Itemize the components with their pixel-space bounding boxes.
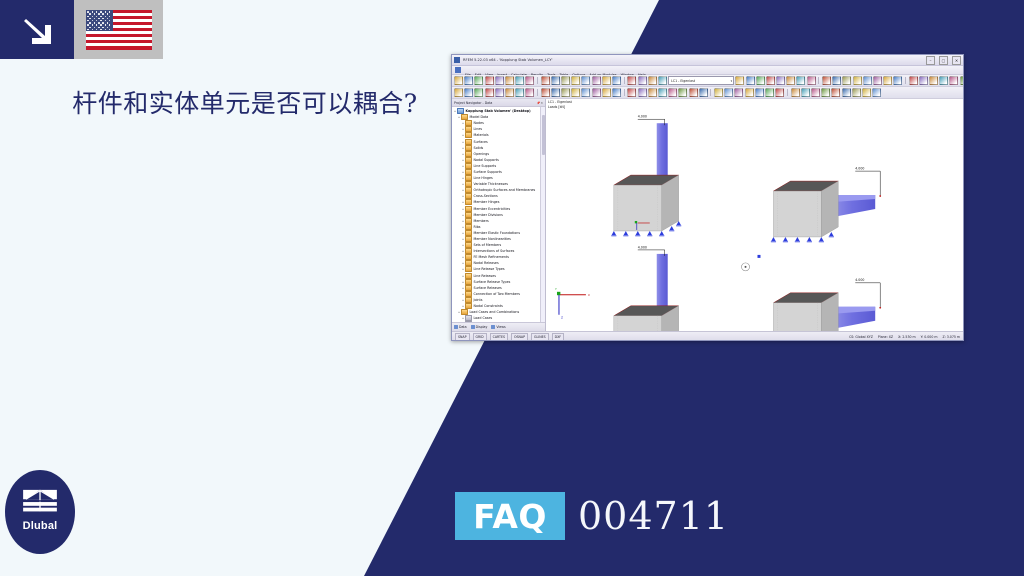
navigator-pin-icon[interactable]: 📌✕ [537, 101, 543, 105]
tree-item-label: Joints [474, 298, 483, 302]
tree-item-label: Surface Releases [474, 286, 502, 290]
folder-icon [465, 126, 472, 132]
folder-icon [465, 254, 472, 260]
menu-app-icon [455, 67, 461, 73]
toolbar-icon-4[interactable] [485, 88, 494, 97]
status-readout: Y: 0.000 m [921, 335, 938, 339]
toolbar-separator [818, 77, 819, 84]
toolbar-icon-16[interactable] [602, 88, 611, 97]
structural-model-graphic: 4.000 [546, 99, 963, 331]
folder-icon [465, 206, 472, 212]
faq-badge: FAQ [455, 492, 565, 540]
navigator-tab-label: Display [476, 325, 488, 329]
folder-icon [461, 309, 468, 315]
folder-icon [465, 248, 472, 254]
toolbar-icon-43[interactable] [862, 88, 871, 97]
navigator-tree[interactable]: +Kopplung Stab Volumen' (Desktop)+Model … [452, 107, 545, 322]
folder-icon [465, 218, 472, 224]
svg-text:4.000: 4.000 [855, 278, 864, 282]
folder-icon [465, 199, 472, 205]
tree-item-label: Line Hinges [474, 176, 493, 180]
folder-icon [465, 151, 472, 157]
folder-icon [457, 108, 464, 114]
status-bar: SNAPGRIDCARTESOSNAPGLINESDXFCS: Global X… [452, 331, 963, 341]
toolbar-icon-12[interactable] [561, 88, 570, 97]
folder-icon [465, 212, 472, 218]
toolbar-icon-37[interactable] [801, 88, 810, 97]
page-title: 杆件和实体单元是否可以耦合? [55, 88, 435, 119]
toolbar-icon-42[interactable] [852, 88, 861, 97]
navigator-tab-views[interactable]: Views [491, 325, 505, 329]
toolbar-icon-21[interactable] [648, 88, 657, 97]
toolbar-icon-8[interactable] [525, 88, 534, 97]
tree-item-label: Line Releases [474, 274, 497, 278]
toolbar-icon-12[interactable] [842, 76, 851, 85]
selection-marker [742, 255, 761, 271]
tree-item-label: Cross-Sections [474, 194, 498, 198]
model-assembly-2: 4.000 [771, 167, 881, 243]
tree-item-label: Surface Supports [474, 170, 502, 174]
toolbar-icon-3[interactable] [474, 76, 483, 85]
main-toolbar: LC1 - Eigenlast▾ [452, 75, 963, 87]
folder-icon [465, 291, 472, 297]
tree-item-label: Member Elastic Foundations [474, 231, 521, 235]
status-readouts: CS: Global XYZPlane: XZX: 2.530 mY: 0.00… [849, 335, 960, 339]
united-states-flag [74, 0, 163, 59]
status-toggle-dxf[interactable]: DXF [552, 333, 564, 341]
load-case-select-value: LC1 - Eigenlast [671, 79, 695, 83]
svg-text:4.000: 4.000 [855, 167, 864, 171]
toolbar-icon-11[interactable] [832, 76, 841, 85]
toolbar-icon-5[interactable] [495, 76, 504, 85]
toolbar-icon-28[interactable] [714, 88, 723, 97]
toolbar-icon-15[interactable] [873, 76, 882, 85]
window-body: Project Navigator - Data 📌✕ +Kopplung St… [452, 99, 963, 331]
toolbar-icon-7[interactable] [515, 88, 524, 97]
toolbar-icon-15[interactable] [592, 76, 601, 85]
folder-icon [465, 132, 472, 138]
close-button[interactable]: ✕ [952, 56, 961, 65]
toolbar-icon-17[interactable] [612, 88, 621, 97]
minimize-button[interactable]: – [926, 56, 935, 65]
tree-item-label: Lines [474, 127, 483, 131]
toolbar-icon-13[interactable] [571, 76, 580, 85]
navigator-title: Project Navigator - Data [454, 101, 492, 105]
tree-item-label: Model Data [470, 115, 489, 119]
model-view[interactable]: LC1 - Eigenlast Loads [kN] [546, 99, 963, 331]
arrow-down-right-icon [0, 0, 74, 59]
toolbar-icon-31[interactable] [745, 88, 754, 97]
folder-icon [465, 321, 472, 322]
tree-item-label: Orthotropic Surfaces and Membranes [474, 188, 536, 192]
toolbar-icon-13[interactable] [853, 76, 862, 85]
toolbar-icon-22[interactable] [658, 88, 667, 97]
maximize-button[interactable]: ▢ [939, 56, 948, 65]
toolbar-icon-1[interactable] [735, 76, 744, 85]
toolbar-icon-23[interactable] [949, 76, 958, 85]
tree-item-label: Member Hinges [474, 200, 500, 204]
status-toggle-osnap[interactable]: OSNAP [511, 333, 528, 341]
toolbar-icon-19[interactable] [627, 88, 636, 97]
faq-number: 004711 [578, 492, 729, 540]
toolbar-icon-10[interactable] [541, 76, 550, 85]
folder-icon [465, 303, 472, 309]
toolbar-icon-36[interactable] [791, 88, 800, 97]
status-toggle-cartes[interactable]: CARTES [490, 333, 508, 341]
toolbar-separator [905, 77, 906, 84]
toolbar-separator [624, 77, 625, 84]
tree-item-label: Connection of Two Members [474, 292, 520, 296]
tab-icon [491, 325, 495, 329]
folder-icon [465, 157, 472, 163]
tree-item-label: Intersections of Surfaces [474, 249, 515, 253]
tree-item-label: Materials [474, 133, 489, 137]
toolbar-icon-13[interactable] [571, 88, 580, 97]
toolbar-icon-20[interactable] [919, 76, 928, 85]
tab-icon [471, 325, 475, 329]
navigator-tab-label: Data [459, 325, 467, 329]
toolbar-icon-41[interactable] [842, 88, 851, 97]
svg-text:X: X [588, 293, 590, 297]
tree-item-label: Nodal Releases [474, 261, 499, 265]
toolbar-icon-25[interactable] [689, 88, 698, 97]
secondary-toolbar [452, 87, 963, 99]
toolbar-icon-24[interactable] [960, 76, 964, 85]
tab-icon [454, 325, 458, 329]
window-controls: – ▢ ✕ [926, 56, 961, 65]
folder-icon [465, 285, 472, 291]
tree-item-label: Line Supports [474, 164, 497, 168]
tree-item-label: Member Eccentricities [474, 207, 511, 211]
toolbar-icon-5[interactable] [495, 88, 504, 97]
toolbar-icon-14[interactable] [581, 88, 590, 97]
toolbar-icon-29[interactable] [724, 88, 733, 97]
toolbar-icon-12[interactable] [561, 76, 570, 85]
toolbar-icon-40[interactable] [831, 88, 840, 97]
toolbar-icon-17[interactable] [893, 76, 902, 85]
tree-item-label: Kopplung Stab Volumen' (Desktop) [466, 109, 531, 113]
toolbar-icon-4[interactable] [485, 76, 494, 85]
toolbar-icon-8[interactable] [525, 76, 534, 85]
app-icon [454, 57, 460, 63]
toolbar-icon-21[interactable] [648, 76, 657, 85]
brand-name: Dlubal [5, 520, 75, 532]
status-readout: Z: 3.075 m [942, 335, 960, 339]
toolbar-icon-6[interactable] [505, 88, 514, 97]
folder-icon [465, 230, 472, 236]
toolbar-icon-4[interactable] [766, 76, 775, 85]
folder-icon [465, 193, 472, 199]
tree-item-label: Nodal Constraints [474, 304, 503, 308]
toolbar-icon-14[interactable] [863, 76, 872, 85]
model-assembly-4: 4.000 [771, 278, 881, 331]
toolbar-icon-30[interactable] [734, 88, 743, 97]
folder-icon [461, 114, 468, 120]
chevron-down-icon[interactable]: ▾ [731, 79, 733, 83]
toolbar-icon-3[interactable] [756, 76, 765, 85]
tree-item-label: Solids [474, 146, 484, 150]
load-case-select[interactable]: LC1 - Eigenlast▾ [668, 76, 734, 85]
toolbar-separator [537, 77, 538, 84]
toolbar-icon-22[interactable] [658, 76, 667, 85]
folder-icon [465, 163, 472, 169]
tree-item-label: Load Cases and Combinations [470, 310, 520, 314]
folder-icon [465, 187, 472, 193]
navigator-header: Project Navigator - Data 📌✕ [452, 99, 545, 107]
toolbar-icon-7[interactable] [796, 76, 805, 85]
toolbar-icon-19[interactable] [627, 76, 636, 85]
toolbar-separator [787, 89, 788, 96]
folder-icon [465, 242, 472, 248]
toolbar-icon-22[interactable] [939, 76, 948, 85]
window-title: RFEM 5.22.03 x64 - 'Kopplung Stab Volume… [463, 58, 553, 62]
toolbar-icon-33[interactable] [765, 88, 774, 97]
folder-icon [465, 120, 472, 126]
status-toggle-snap[interactable]: SNAP [455, 333, 470, 341]
toolbar-icon-2[interactable] [464, 76, 473, 85]
toolbar-icon-34[interactable] [775, 88, 784, 97]
model-assembly-1: 4.000 [611, 115, 681, 237]
tree-item-label: Member Nonlinearities [474, 237, 511, 241]
toolbar-separator [710, 89, 711, 96]
toolbar-icon-17[interactable] [612, 76, 621, 85]
toolbar-icon-2[interactable] [464, 88, 473, 97]
model-assembly-3: 4.000 [611, 245, 681, 331]
faq-label: FAQ [473, 497, 547, 536]
tree-item-label: Load Cases [474, 316, 493, 320]
tree-item-label: Ribs [474, 225, 481, 229]
toolbar-icon-21[interactable] [929, 76, 938, 85]
status-readout: X: 2.530 m [898, 335, 916, 339]
toolbar-icon-44[interactable] [872, 88, 881, 97]
folder-icon [465, 266, 472, 272]
status-readout: Plane: XZ [878, 335, 893, 339]
toolbar-icon-3[interactable] [474, 88, 483, 97]
toolbar-icon-8[interactable] [807, 76, 816, 85]
navigator-scrollbar[interactable] [540, 107, 545, 322]
toolbar-icon-10[interactable] [541, 88, 550, 97]
menu-bar: FileEditViewInsertCalculateResultsToolsT… [452, 66, 963, 75]
tree-item-label: Line Release Types [474, 267, 505, 271]
dlubal-logo: Dlubal [5, 470, 75, 554]
toolbar-icon-10[interactable] [822, 76, 831, 85]
toolbar-icon-16[interactable] [883, 76, 892, 85]
toolbar-icon-1[interactable] [454, 76, 463, 85]
status-toggle-grid[interactable]: GRID [473, 333, 487, 341]
navigator-tab-data[interactable]: Data [454, 325, 467, 329]
toolbar-icon-19[interactable] [909, 76, 918, 85]
tree-item[interactable]: +Load Combinations [453, 321, 545, 322]
status-toggle-glines[interactable]: GLINES [531, 333, 549, 341]
tree-item-label: Members [474, 219, 489, 223]
folder-icon [465, 236, 472, 242]
window-title-bar: RFEM 5.22.03 x64 - 'Kopplung Stab Volume… [452, 55, 963, 66]
toolbar-icon-7[interactable] [515, 76, 524, 85]
toolbar-icon-39[interactable] [821, 88, 830, 97]
navigator-tab-label: Views [496, 325, 505, 329]
folder-icon [465, 181, 472, 187]
tree-item-label: Surface Release Types [474, 280, 511, 284]
toolbar-icon-6[interactable] [505, 76, 514, 85]
folder-icon [465, 315, 472, 321]
toolbar-separator [624, 89, 625, 96]
status-readout: CS: Global XYZ [849, 335, 873, 339]
toolbar-icon-5[interactable] [776, 76, 785, 85]
toolbar-icon-14[interactable] [581, 76, 590, 85]
svg-text:Y: Y [555, 287, 557, 291]
slide-canvas: 杆件和实体单元是否可以耦合? Dlubal FAQ 004711 RFEM 5.… [0, 0, 1024, 576]
folder-icon [465, 273, 472, 279]
toolbar-icon-20[interactable] [638, 88, 647, 97]
toolbar-icon-11[interactable] [551, 76, 560, 85]
svg-text:4.000: 4.000 [638, 245, 647, 249]
folder-icon [465, 169, 472, 175]
tree-item-label: Surfaces [474, 140, 488, 144]
toolbar-icon-20[interactable] [638, 76, 647, 85]
toolbar-icon-26[interactable] [699, 88, 708, 97]
project-navigator: Project Navigator - Data 📌✕ +Kopplung St… [452, 99, 546, 331]
toolbar-icon-24[interactable] [678, 88, 687, 97]
tree-item-label: Member Divisions [474, 213, 503, 217]
tree-item-label: Sets of Members [474, 243, 502, 247]
rfem-application-window: RFEM 5.22.03 x64 - 'Kopplung Stab Volume… [451, 54, 964, 341]
toolbar-icon-16[interactable] [602, 76, 611, 85]
toolbar-icon-6[interactable] [786, 76, 795, 85]
navigator-tabs: DataDisplayViews [452, 322, 545, 331]
toolbar-icon-23[interactable] [668, 88, 677, 97]
tree-item-label: Nodal Supports [474, 158, 499, 162]
tree-item-label: Nodes [474, 121, 484, 125]
folder-icon [465, 145, 472, 151]
folder-icon [465, 139, 472, 145]
toolbar-icon-1[interactable] [454, 88, 463, 97]
tree-item-label: Variable Thicknesses [474, 182, 508, 186]
navigator-tab-display[interactable]: Display [471, 325, 488, 329]
toolbar-separator [537, 89, 538, 96]
folder-icon [465, 175, 472, 181]
toolbar-icon-15[interactable] [592, 88, 601, 97]
folder-icon [465, 297, 472, 303]
folder-icon [465, 224, 472, 230]
tree-item-label: Openings [474, 152, 490, 156]
toolbar-icon-32[interactable] [755, 88, 764, 97]
toolbar-icon-2[interactable] [746, 76, 755, 85]
toolbar-icon-38[interactable] [811, 88, 820, 97]
folder-icon [465, 279, 472, 285]
global-axis-triad: X Y Z [555, 287, 590, 320]
tree-item-label: FE Mesh Refinements [474, 255, 509, 259]
svg-text:Z: Z [561, 316, 563, 320]
svg-text:4.000: 4.000 [638, 115, 647, 119]
toolbar-icon-11[interactable] [551, 88, 560, 97]
folder-icon [465, 260, 472, 266]
